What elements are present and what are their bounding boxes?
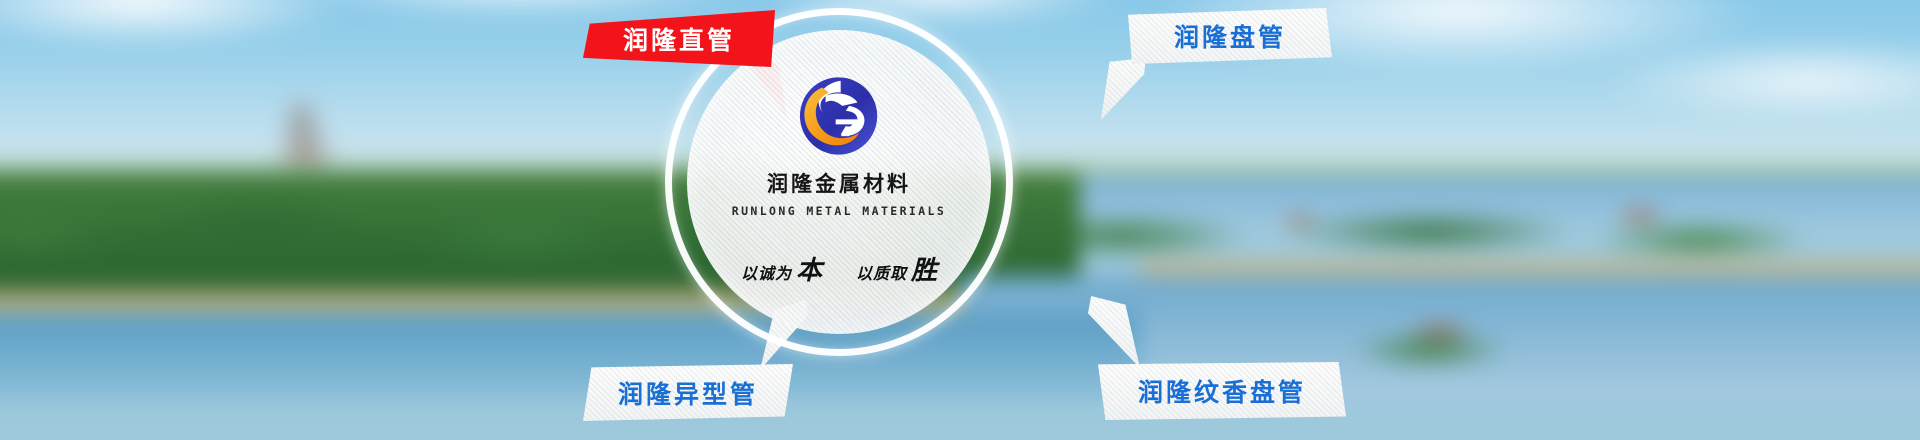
slogan-right-small: 以质取 — [856, 260, 907, 284]
label-coil-pipe-text: 润隆盘管 — [1174, 18, 1286, 54]
label-patterned-coil-pipe[interactable]: 润隆纹香盘管 — [1098, 362, 1346, 420]
slogan-right: 以质取 胜 — [856, 250, 937, 287]
emblem-inner-disc: 润隆金属材料 RUNLONG METAL MATERIALS 以诚为 本 以质取… — [687, 30, 991, 334]
runlong-swoosh-logo-icon — [797, 74, 881, 158]
brand-name-cn: 润隆金属材料 — [767, 168, 911, 198]
label-patterned-coil-pipe-text: 润隆纹香盘管 — [1138, 373, 1306, 409]
slogan-left-small: 以诚为 — [741, 260, 792, 284]
slogan-left-big: 本 — [796, 250, 822, 287]
brand-name-en: RUNLONG METAL MATERIALS — [732, 204, 946, 218]
label-coil-pipe[interactable]: 润隆盘管 — [1128, 8, 1332, 64]
hero-banner: 润隆金属材料 RUNLONG METAL MATERIALS 以诚为 本 以质取… — [0, 0, 1920, 440]
label-special-shaped-pipe-text: 润隆异型管 — [618, 375, 758, 411]
label-special-shaped-pipe[interactable]: 润隆异型管 — [583, 364, 793, 421]
slogan-left: 以诚为 本 — [741, 250, 822, 287]
foreground-island — [1320, 316, 1660, 386]
label-straight-pipe-text: 润隆直管 — [623, 21, 735, 57]
slogan-right-big: 胜 — [911, 250, 937, 287]
slogan-row: 以诚为 本 以质取 胜 — [741, 250, 937, 287]
